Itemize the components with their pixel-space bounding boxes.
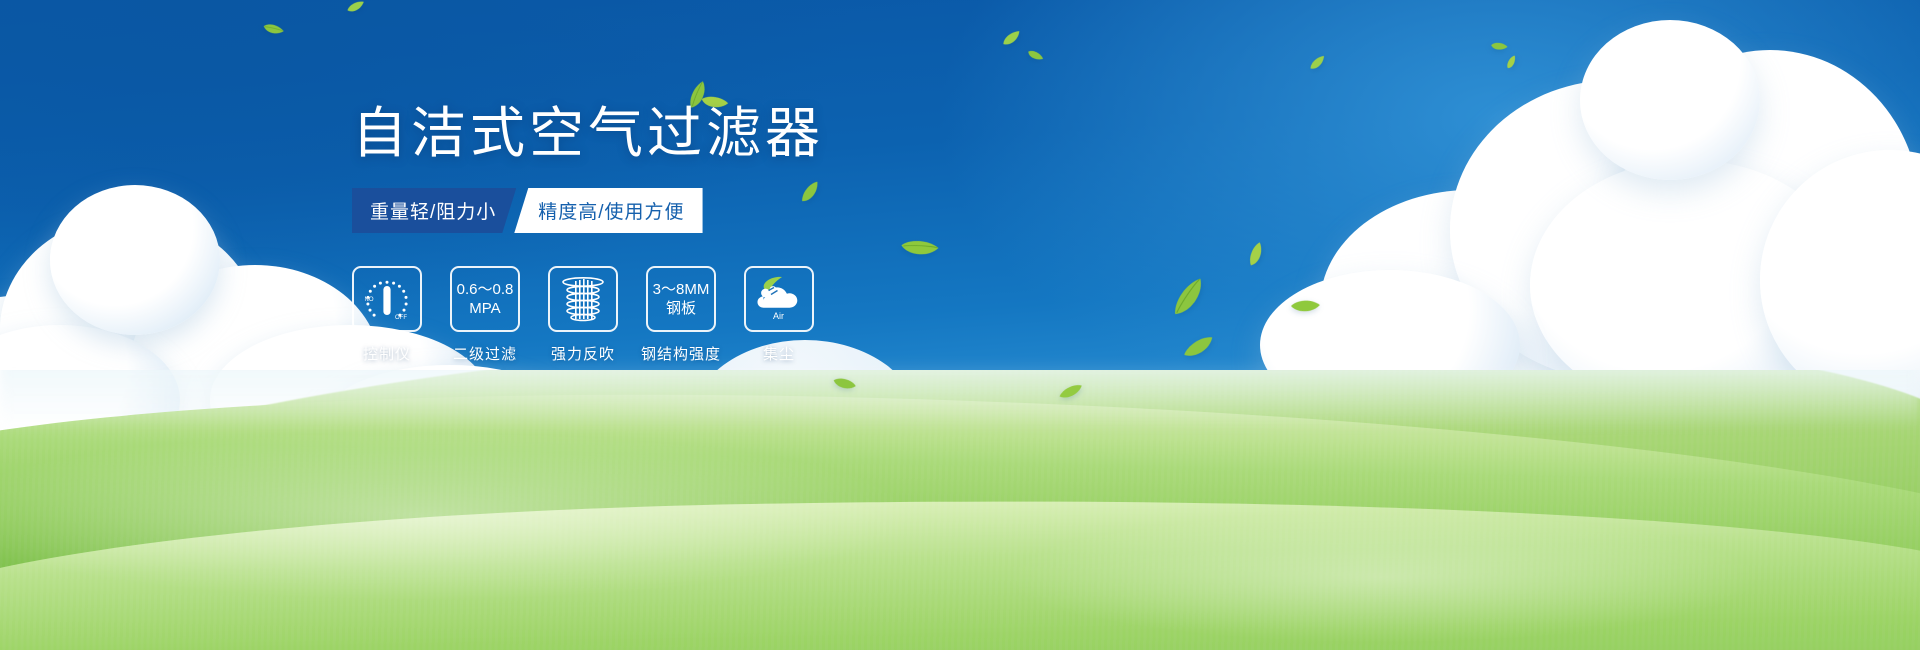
feature-icon-box: NO OFF xyxy=(352,266,422,332)
svg-text:OFF: OFF xyxy=(395,315,407,321)
feature-icon-box: 0.6〜0.8 MPA xyxy=(450,266,520,332)
feature-icon-box xyxy=(548,266,618,332)
banner-content: 自洁式空气过滤器 重量轻/阻力小 精度高/使用方便 xyxy=(352,106,1112,364)
feature-icon-box: 3〜8MM 钢板 xyxy=(646,266,716,332)
feature-list: NO OFF 控制仪 0.6〜0.8 MPA 二级过滤 xyxy=(352,266,1112,364)
tab-precision-convenience[interactable]: 精度高/使用方便 xyxy=(514,188,702,233)
feature-label: 强力反吹 xyxy=(551,343,615,364)
svg-text:NO: NO xyxy=(365,297,374,303)
feature-label: 二级过滤 xyxy=(453,343,517,364)
feature-item-steel-strength[interactable]: 3〜8MM 钢板 钢结构强度 xyxy=(646,266,716,364)
feature-label: 钢结构强度 xyxy=(641,343,721,364)
feature-item-dust-collection[interactable]: Air 集尘 xyxy=(744,266,814,364)
feature-line-2: 钢板 xyxy=(666,299,696,318)
filter-coil-icon xyxy=(560,275,606,323)
feature-item-filtration[interactable]: 0.6〜0.8 MPA 二级过滤 xyxy=(450,266,520,364)
tab-weight-resistance[interactable]: 重量轻/阻力小 xyxy=(352,188,516,233)
promo-banner: 自洁式空气过滤器 重量轻/阻力小 精度高/使用方便 xyxy=(0,0,1920,650)
grass-field xyxy=(0,370,1920,650)
air-label: Air xyxy=(773,311,784,321)
page-title: 自洁式空气过滤器 xyxy=(352,106,1112,161)
feature-icon-box: Air xyxy=(744,266,814,332)
feature-line-2: MPA xyxy=(469,299,500,318)
grass-horizon-blend xyxy=(0,370,1920,430)
feature-item-controller[interactable]: NO OFF 控制仪 xyxy=(352,266,422,364)
feature-label: 控制仪 xyxy=(363,343,411,364)
feature-line-1: 0.6〜0.8 xyxy=(457,280,514,299)
feature-label: 集尘 xyxy=(763,343,795,364)
feature-line-1: 3〜8MM xyxy=(653,280,710,299)
control-dial-icon: NO OFF xyxy=(361,275,413,323)
tagline-tabs: 重量轻/阻力小 精度高/使用方便 xyxy=(352,188,672,233)
feature-item-blowback[interactable]: 强力反吹 xyxy=(548,266,618,364)
air-cloud-icon: Air xyxy=(752,274,806,324)
